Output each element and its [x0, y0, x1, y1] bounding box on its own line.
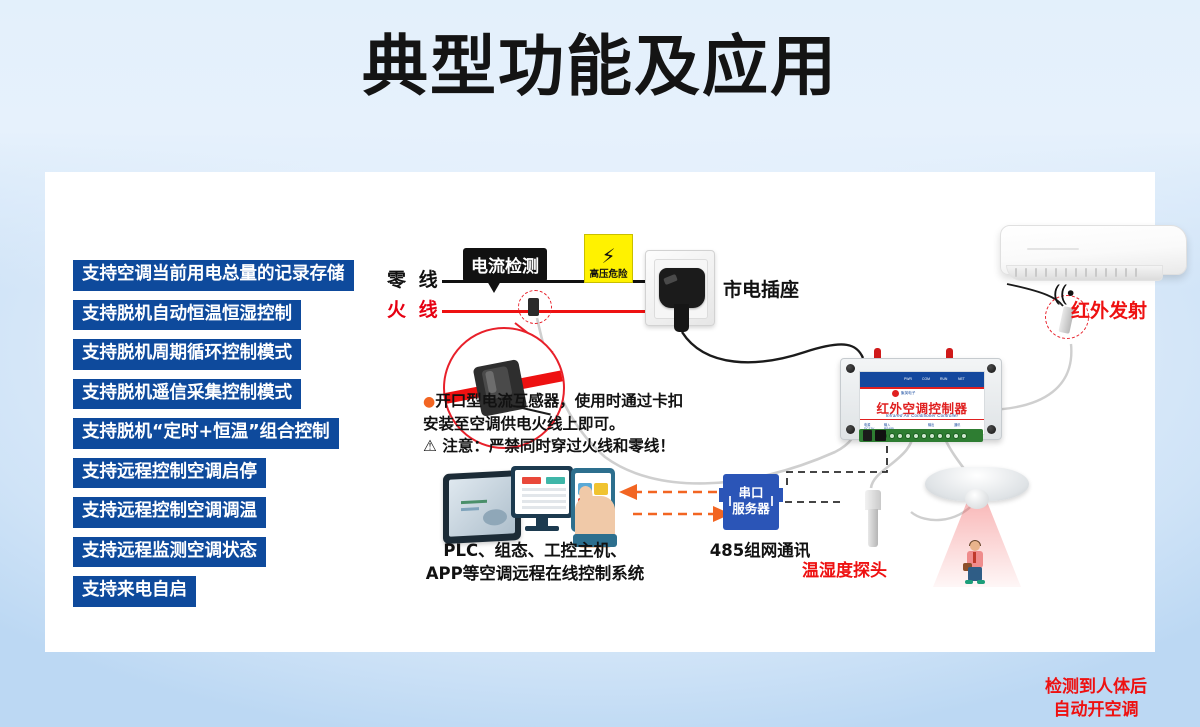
temperature-humidity-probe-label: 温湿度探头	[802, 556, 887, 581]
aircon-fin	[1045, 268, 1047, 277]
controller-shell: PWR COM RUN NET 聚英电子 红外空调控制器 Infrared Ai…	[840, 358, 1002, 440]
serial-server-notch-right	[779, 488, 783, 502]
live-wire-line	[442, 310, 677, 313]
lightning-bolt-icon: ⚡	[601, 248, 615, 266]
industrial-pc-screen	[449, 476, 515, 536]
controller-screw	[846, 425, 855, 434]
person-tie	[973, 552, 976, 563]
pir-sensor-lens	[965, 489, 989, 509]
controller-power-jack	[863, 430, 872, 441]
feature-item-7: 支持远程控制空调调温	[73, 497, 266, 528]
screen-row	[522, 494, 566, 497]
power-plug	[659, 268, 705, 308]
bullet-icon: ●	[423, 394, 435, 410]
feature-row: 支持远程监测空调状态	[73, 537, 354, 577]
feature-item-2: 支持脱机自动恒温恒湿控制	[73, 300, 301, 331]
brand-name-text: 聚英电子	[901, 391, 915, 396]
aircon-fin	[1085, 268, 1087, 277]
aircon-fin	[1125, 268, 1127, 277]
air-conditioner-unit	[1000, 225, 1185, 287]
ct-sensor-on-wire	[528, 298, 539, 316]
controller-led-label-net: NET	[958, 377, 965, 381]
monitor-base	[525, 526, 559, 531]
controller-led-label-com: COM	[922, 377, 930, 381]
feature-row: 支持脱机“定时+恒温”组合控制	[73, 418, 354, 458]
note-text-1: 开口型电流互感器，使用时通过卡扣	[435, 392, 683, 410]
brand-logo-icon	[892, 390, 899, 397]
app-tile	[594, 483, 608, 495]
controller-connector	[875, 430, 886, 441]
terminal-screw	[921, 433, 927, 439]
screen-line	[461, 507, 479, 511]
note-line-2: 安装至空调供电火线上即可。	[423, 413, 723, 435]
probe-body	[868, 509, 878, 547]
note-line-3: ⚠ 注意：严禁同时穿过火线和零线！	[423, 435, 723, 457]
danger-badge-text: 高压危险	[589, 266, 627, 280]
feature-row: 支持脱机遥信采集控制模式	[73, 379, 354, 419]
screen-row	[522, 500, 566, 503]
aircon-fin	[1115, 268, 1117, 277]
monitor-screen	[515, 470, 569, 514]
probe-cap	[865, 490, 881, 510]
desktop-monitor	[511, 466, 573, 532]
person-shoe	[965, 580, 973, 584]
aircon-vent	[1006, 265, 1163, 281]
terminal-screw	[961, 433, 967, 439]
serial-server-label-line1: 串口	[723, 485, 779, 501]
live-wire-label: 火 线	[387, 295, 441, 322]
controller-led-label-pwr: PWR	[904, 377, 912, 381]
controller-accent-line	[860, 387, 984, 389]
ir-air-conditioner-controller: PWR COM RUN NET 聚英电子 红外空调控制器 Infrared Ai…	[840, 352, 1000, 442]
aircon-display-seam	[1027, 248, 1079, 250]
screen-graphic	[483, 509, 507, 526]
feature-row: 支持远程控制空调调温	[73, 497, 354, 537]
warning-triangle-icon: ⚠	[423, 437, 437, 455]
terminal-screw	[945, 433, 951, 439]
aircon-fin	[1095, 268, 1097, 277]
temperature-humidity-probe	[865, 490, 881, 548]
terminal-screw	[953, 433, 959, 439]
terminal-screw	[905, 433, 911, 439]
feature-item-3: 支持脱机周期循环控制模式	[73, 339, 301, 370]
pir-detection-label-line1: 检测到人体后	[1045, 676, 1147, 699]
terminal-screw	[897, 433, 903, 439]
feature-item-5: 支持脱机“定时+恒温”组合控制	[73, 418, 339, 449]
controller-led-label-run: RUN	[940, 377, 947, 381]
aircon-fin	[1135, 268, 1137, 277]
controller-screw	[987, 425, 996, 434]
person-legs	[968, 567, 982, 581]
note-text-3: 注意：严禁同时穿过火线和零线！	[442, 437, 675, 455]
feature-row: 支持脱机自动恒温恒湿控制	[73, 300, 354, 340]
serial-server-device: 串口 服务器	[723, 474, 779, 530]
mains-socket-label: 市电插座	[723, 275, 799, 302]
ct-usage-note: ●开口型电流互感器，使用时通过卡扣 安装至空调供电火线上即可。 ⚠ 注意：严禁同…	[423, 390, 723, 457]
screen-chip-teal	[546, 477, 565, 484]
aircon-fin	[1065, 268, 1067, 277]
person-shoe	[977, 580, 985, 584]
control-systems-caption: PLC、组态、工控主机、 APP等空调远程在线控制系统	[385, 540, 685, 586]
aircon-fin	[1025, 268, 1027, 277]
aircon-fin	[1015, 268, 1017, 277]
control-systems-caption-line2: APP等空调远程在线控制系统	[385, 563, 685, 586]
feature-item-9: 支持来电自启	[73, 576, 196, 607]
aircon-fin	[1075, 268, 1077, 277]
controller-status-bar: PWR COM RUN NET	[860, 372, 984, 387]
feature-item-4: 支持脱机遥信采集控制模式	[73, 379, 301, 410]
controller-faceplate: PWR COM RUN NET 聚英电子 红外空调控制器 Infrared Ai…	[859, 371, 985, 435]
terminal-screw	[913, 433, 919, 439]
screen-row	[522, 506, 566, 509]
feature-item-1: 支持空调当前用电总量的记录存储	[73, 260, 354, 291]
page-title: 典型功能及应用	[0, 34, 1200, 100]
terminal-screw	[937, 433, 943, 439]
power-plug-cord	[674, 304, 689, 332]
monitor-frame	[511, 466, 573, 518]
controller-divider-line	[860, 419, 984, 420]
feature-list: 支持空调当前用电总量的记录存储 支持脱机自动恒温恒湿控制 支持脱机周期循环控制模…	[73, 260, 354, 616]
neutral-wire-label: 零 线	[387, 265, 441, 292]
person-head	[970, 541, 980, 551]
screen-chip-red	[522, 477, 541, 484]
note-line-1: ●开口型电流互感器，使用时通过卡扣	[423, 390, 723, 413]
controller-port-label-output: 输出	[928, 422, 934, 427]
current-detection-badge: 电流检测	[463, 248, 547, 282]
pir-motion-sensor	[925, 467, 1029, 587]
person-illustration	[963, 541, 987, 585]
serial-server-label-line2: 服务器	[723, 501, 779, 517]
feature-row: 支持远程控制空调启停	[73, 458, 354, 498]
aircon-fin	[1035, 268, 1037, 277]
controller-screw	[987, 364, 996, 373]
controller-port-label-comm: 通讯	[954, 422, 960, 427]
infrared-emitter-label: 红外发射	[1071, 296, 1147, 323]
pir-detection-label: 检测到人体后 自动开空调	[1045, 676, 1147, 722]
screen-line	[461, 500, 487, 504]
feature-item-6: 支持远程控制空调启停	[73, 458, 266, 489]
diagram-panel: 支持空调当前用电总量的记录存储 支持脱机自动恒温恒湿控制 支持脱机周期循环控制模…	[45, 172, 1155, 652]
feature-row: 支持来电自启	[73, 576, 354, 616]
feature-item-8: 支持远程监测空调状态	[73, 537, 266, 568]
control-systems-caption-line1: PLC、组态、工控主机、	[385, 540, 685, 563]
feature-row: 支持脱机周期循环控制模式	[73, 339, 354, 379]
screen-row	[522, 488, 566, 491]
terminal-screw	[929, 433, 935, 439]
aircon-fin	[1105, 268, 1107, 277]
controller-product-name-en: Infrared Air Conditioner Controller	[860, 413, 984, 418]
pir-detection-label-line2: 自动开空调	[1045, 699, 1147, 722]
serial-server-label: 串口 服务器	[723, 485, 779, 517]
controller-screw	[846, 364, 855, 373]
aircon-fin	[1055, 268, 1057, 277]
terminal-screw	[889, 433, 895, 439]
feature-row: 支持空调当前用电总量的记录存储	[73, 260, 354, 300]
high-voltage-danger-badge: ⚡ 高压危险	[584, 234, 633, 283]
industrial-pc	[443, 470, 521, 544]
